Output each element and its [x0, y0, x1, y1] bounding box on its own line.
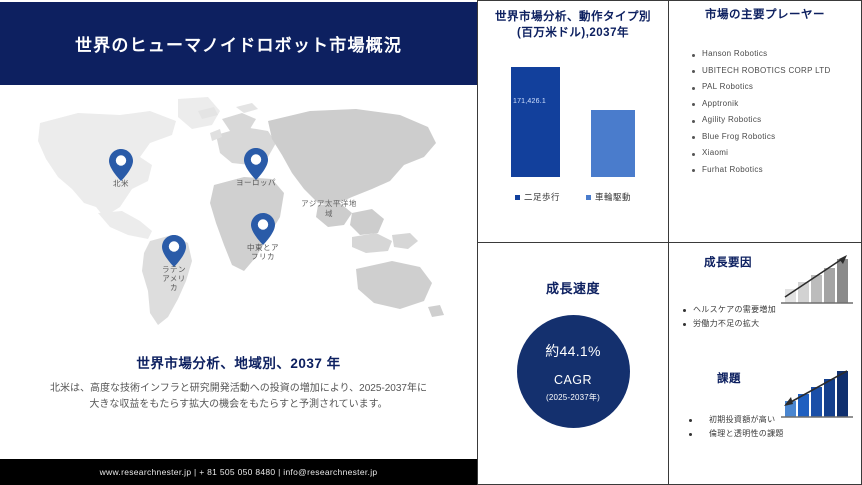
challenges-title: 課題 [699, 371, 759, 387]
challenge-text: 初期投資額が高い [709, 415, 775, 425]
bullet-icon [692, 103, 695, 106]
map-pin-label: ラテンアメリカ [159, 265, 189, 292]
list-item: Blue Frog Robotics [692, 132, 861, 142]
legend-item-bipedal: 二足歩行 [515, 191, 560, 203]
player-name: PAL Robotics [702, 82, 753, 92]
footer-contact: www.researchnester.jp | + 81 505 050 848… [100, 467, 378, 477]
legend-label: 二足歩行 [524, 191, 560, 203]
location-pin-icon [250, 212, 276, 246]
player-name: Blue Frog Robotics [702, 132, 775, 142]
left-panel: 世界のヒューマノイドロボット市場概況 [0, 0, 477, 485]
bullet-icon [692, 54, 695, 57]
list-item: 初期投資額が高い [689, 415, 784, 425]
infographic-root: 世界のヒューマノイドロボット市場概況 [0, 0, 862, 485]
drivers-challenges-panel: 成長要因 ヘルスケアの [668, 242, 862, 485]
driver-text: ヘルスケアの需要増加 [693, 305, 776, 315]
player-name: UBITECH ROBOTICS CORP LTD [702, 66, 831, 76]
player-name: Apptronik [702, 99, 739, 109]
page-title: 世界のヒューマノイドロボット市場概況 [75, 31, 402, 56]
challenges-list: 初期投資額が高い 倫理と透明性の課題 [689, 415, 784, 443]
list-item: ヘルスケアの需要増加 [683, 305, 776, 315]
caption-body: 北米は、高度な技術インフラと研究開発活動への投資の増加により、2025-2037… [0, 381, 477, 413]
caption-title: 世界市場分析、地域別、2037 年 [0, 352, 477, 372]
bar-wheeled [591, 110, 635, 177]
list-item: Furhat Robotics [692, 165, 861, 175]
player-name: Furhat Robotics [702, 165, 763, 175]
bullet-icon [689, 419, 692, 422]
bullet-icon [692, 169, 695, 172]
bullet-icon [692, 136, 695, 139]
challenge-text: 倫理と透明性の課題 [709, 429, 784, 439]
bullet-icon [689, 433, 692, 436]
map-pin-label: 北米 [113, 179, 129, 188]
key-players-panel: 市場の主要プレーヤー Hanson Robotics UBITECH ROBOT… [668, 0, 862, 243]
cagr-circle: 約44.1% CAGR (2025-2037年) [517, 315, 630, 428]
list-item: PAL Robotics [692, 82, 861, 92]
growth-drivers-title: 成長要因 [691, 255, 765, 271]
legend-swatch-icon [515, 195, 520, 200]
footer-bar: www.researchnester.jp | + 81 505 050 848… [0, 459, 477, 485]
growth-rate-panel: 成長速度 約44.1% CAGR (2025-2037年) [477, 242, 669, 485]
map-pin-latin-america[interactable]: ラテンアメリカ [161, 234, 187, 268]
player-name: Agility Robotics [702, 115, 762, 125]
location-pin-icon [161, 234, 187, 268]
growth-rate-title: 成長速度 [478, 243, 668, 297]
map-pin-middle-east-africa[interactable]: 中東とアフリカ [250, 212, 276, 246]
driver-text: 労働力不足の拡大 [693, 319, 759, 329]
map-caption: 世界市場分析、地域別、2037 年 北米は、高度な技術インフラと研究開発活動への… [0, 352, 477, 413]
bullet-icon [683, 309, 686, 312]
bar-chart: 171,426.1 [478, 51, 668, 177]
list-item: Xiaomi [692, 148, 861, 158]
list-item: Apptronik [692, 99, 861, 109]
challenges-chart-down-icon [779, 365, 855, 426]
world-map: 北米 ヨーロッパ 中東とアフリカ [0, 85, 477, 335]
bar-bipedal [511, 67, 560, 177]
list-item: 労働力不足の拡大 [683, 319, 776, 329]
map-pin-europe[interactable]: ヨーロッパ [243, 147, 269, 181]
market-by-type-chart-panel: 世界市場分析、動作タイプ別 (百万米ドル),2037年 171,426.1 二足… [477, 0, 669, 243]
key-players-title: 市場の主要プレーヤー [669, 1, 861, 23]
list-item: UBITECH ROBOTICS CORP LTD [692, 66, 861, 76]
chart-legend: 二足歩行 車輪駆動 [478, 191, 668, 203]
map-region-asia-pacific: アジア太平洋地域 [300, 199, 358, 218]
legend-item-wheeled: 車輪駆動 [586, 191, 631, 203]
cagr-period: (2025-2037年) [546, 392, 600, 403]
cagr-metric: CAGR [554, 373, 592, 387]
bullet-icon [692, 120, 695, 123]
bullet-icon [692, 87, 695, 90]
bullet-icon [683, 323, 686, 326]
bullet-icon [692, 70, 695, 73]
player-name: Hanson Robotics [702, 49, 767, 59]
cagr-value: 約44.1% [545, 341, 601, 361]
legend-swatch-icon [586, 195, 591, 200]
growth-chart-up-icon [779, 251, 855, 312]
list-item: 倫理と透明性の課題 [689, 429, 784, 439]
bullet-icon [692, 153, 695, 156]
legend-label: 車輪駆動 [595, 191, 631, 203]
header-banner: 世界のヒューマノイドロボット市場概況 [0, 2, 477, 85]
growth-drivers-list: ヘルスケアの需要増加 労働力不足の拡大 [683, 305, 776, 333]
list-item: Agility Robotics [692, 115, 861, 125]
map-pin-north-america[interactable]: 北米 [108, 148, 134, 182]
map-pin-label: ヨーロッパ [236, 178, 276, 187]
list-item: Hanson Robotics [692, 49, 861, 59]
player-name: Xiaomi [702, 148, 728, 158]
right-panel: 世界市場分析、動作タイプ別 (百万米ドル),2037年 171,426.1 二足… [477, 0, 862, 485]
map-pin-label: 中東とアフリカ [246, 243, 280, 261]
location-pin-icon [108, 148, 134, 182]
key-players-list: Hanson Robotics UBITECH ROBOTICS CORP LT… [669, 49, 861, 175]
bar-value-label: 171,426.1 [513, 98, 546, 105]
world-map-shapes [0, 85, 477, 335]
chart-title: 世界市場分析、動作タイプ別 (百万米ドル),2037年 [478, 1, 668, 41]
location-pin-icon [243, 147, 269, 181]
